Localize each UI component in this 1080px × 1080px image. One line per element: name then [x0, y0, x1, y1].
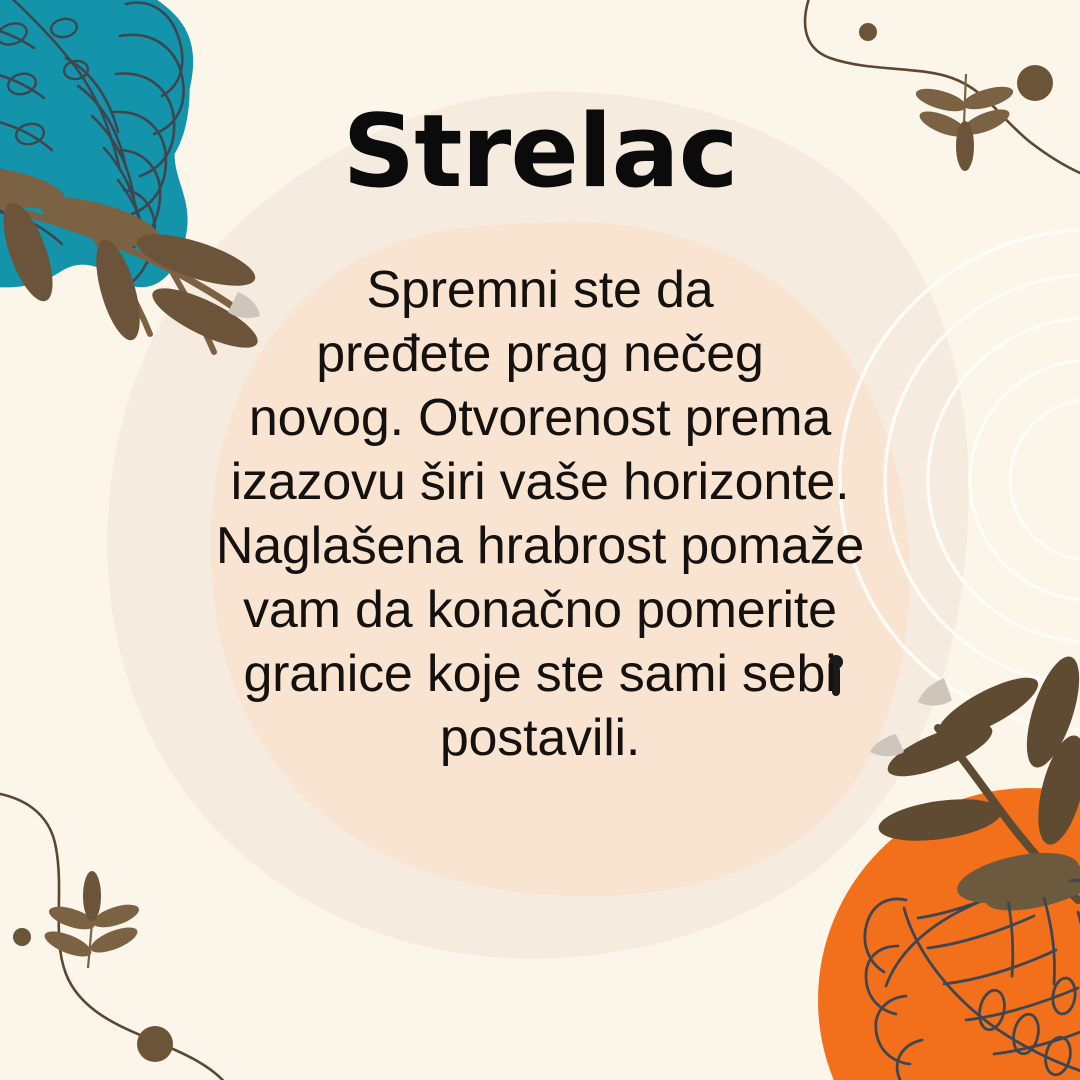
body-text-line: novog. Otvorenost prema [170, 386, 910, 450]
poster-canvas: Strelac Spremni ste dapređete prag nečeg… [0, 0, 1080, 1080]
body-text-line: izazovu širi vaše horizonte. [170, 450, 910, 514]
body-text-line: postavili. [170, 706, 910, 770]
body-text-line: Spremni ste da [170, 258, 910, 322]
body-text-line: pređete prag nečeg [170, 322, 910, 386]
body-text-line: vam da konačno pomerite [170, 578, 910, 642]
poster-content: Strelac Spremni ste dapređete prag nečeg… [0, 0, 1080, 1080]
horoscope-body-text: Spremni ste dapređete prag nečegnovog. O… [170, 258, 910, 770]
body-text-line: Naglašena hrabrost pomaže [170, 514, 910, 578]
body-text-line: granice koje ste sami sebi [170, 642, 910, 706]
page-title: Strelac [0, 101, 1080, 202]
